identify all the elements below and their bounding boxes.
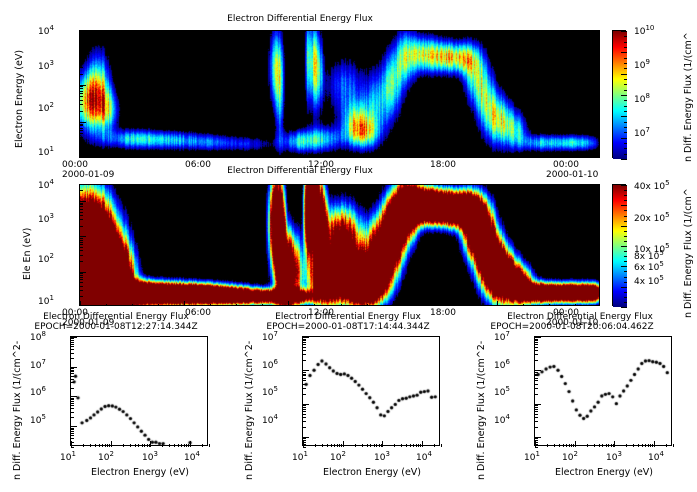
spectrum-3-ylabel: n Diff. Energy Flux (1/(cm^2-	[476, 341, 487, 480]
spectrum-3-title: Electron Differential Energy Flux	[464, 312, 696, 322]
spectrum-2-xlabel: Electron Energy (eV)	[292, 467, 452, 478]
spectrum-1-plot[interactable]	[70, 336, 208, 446]
top-panel-ylabel: Electron Energy (eV)	[14, 50, 25, 148]
spectrum-2-plot[interactable]	[302, 336, 440, 446]
middle-colorbar[interactable]	[612, 184, 626, 306]
middle-panel-ylabel: Ele En (eV)	[22, 228, 33, 280]
spectrum-1-ylabel: n Diff. Energy Flux (1/(cm^2-	[12, 341, 23, 480]
middle-colorbar-label: n Diff. Energy Flux (1/(cm^	[683, 188, 694, 318]
top-panel-title: Electron Differential Energy Flux	[0, 14, 600, 24]
spectrum-1-title: Electron Differential Energy Flux	[0, 312, 232, 322]
top-colorbar[interactable]	[612, 30, 626, 158]
spectrum-3-epoch: EPOCH=2000-01-08T20:06:04.462Z	[456, 322, 688, 332]
spectrum-panel-3[interactable]: Electron Differential Energy Flux EPOCH=…	[464, 312, 697, 492]
spectrum-3-plot[interactable]	[534, 336, 672, 446]
spectrum-panel-1[interactable]: Electron Differential Energy Flux EPOCH=…	[0, 312, 232, 492]
middle-spectrogram[interactable]	[79, 184, 600, 306]
top-colorbar-label: n Diff. Energy Flux (1/(cm^	[683, 32, 694, 162]
spectrum-panel-2[interactable]: Electron Differential Energy Flux EPOCH=…	[232, 312, 464, 492]
spectrum-1-xlabel: Electron Energy (eV)	[60, 467, 220, 478]
top-spectrogram[interactable]	[79, 30, 600, 158]
spectrum-2-title: Electron Differential Energy Flux	[232, 312, 464, 322]
spectrum-3-xlabel: Electron Energy (eV)	[524, 467, 684, 478]
spectrum-2-ylabel: n Diff. Energy Flux (1/(cm^2-	[244, 341, 255, 480]
middle-panel-title: Electron Differential Energy Flux	[0, 166, 600, 176]
